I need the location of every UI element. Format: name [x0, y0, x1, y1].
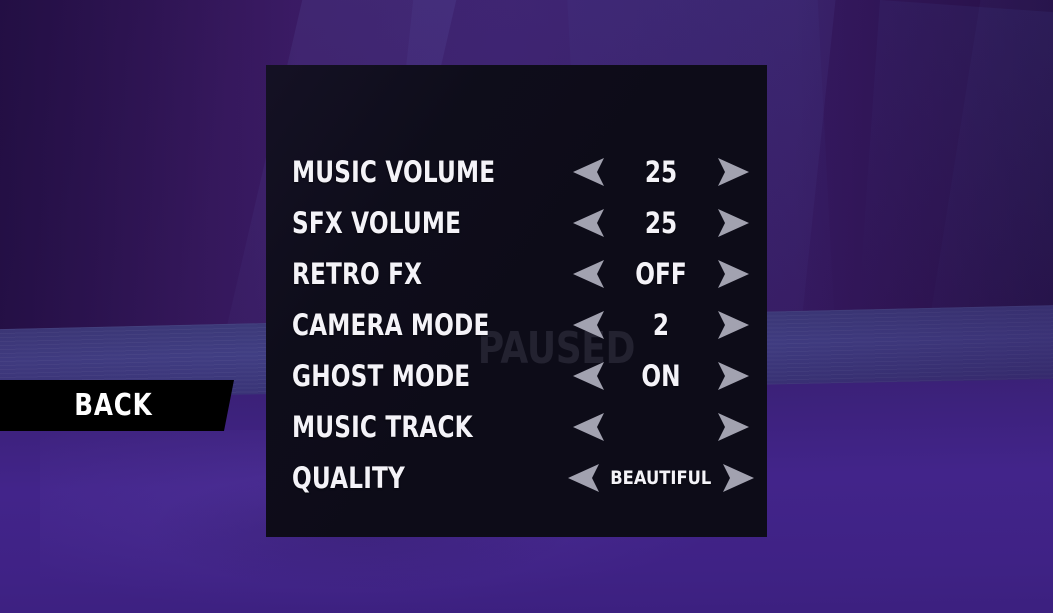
settings-row: QUALITYBEAUTIFUL [266, 456, 767, 500]
settings-row: SFX VOLUME25 [266, 201, 767, 245]
settings-row-control: 25 [571, 201, 751, 245]
back-button[interactable]: BACK [0, 380, 234, 431]
triangle-right-icon[interactable] [715, 157, 751, 187]
triangle-right-icon[interactable] [715, 310, 751, 340]
settings-row-label: CAMERA MODE [292, 303, 489, 347]
settings-row-value: OFF [618, 252, 704, 296]
settings-row-label: RETRO FX [292, 252, 422, 296]
triangle-right-icon[interactable] [720, 463, 756, 493]
settings-row-value: 25 [618, 201, 704, 245]
settings-row-list: MUSIC VOLUME25SFX VOLUME25RETRO FXOFFCAM… [266, 65, 767, 537]
triangle-left-icon[interactable] [566, 463, 602, 493]
settings-row-value: 25 [618, 150, 704, 194]
back-button-label: BACK [75, 380, 160, 431]
settings-row-label: MUSIC TRACK [292, 405, 473, 449]
settings-row-control: ON [571, 354, 751, 398]
settings-row-value: ON [618, 354, 704, 398]
settings-row-label: MUSIC VOLUME [292, 150, 495, 194]
settings-row: MUSIC VOLUME25 [266, 150, 767, 194]
settings-row: GHOST MODEON [266, 354, 767, 398]
settings-row-label: QUALITY [292, 456, 405, 500]
settings-row-label: SFX VOLUME [292, 201, 461, 245]
triangle-right-icon[interactable] [715, 208, 751, 238]
triangle-left-icon[interactable] [571, 208, 607, 238]
triangle-right-icon[interactable] [715, 259, 751, 289]
triangle-right-icon[interactable] [715, 361, 751, 391]
settings-panel: PAUSED MUSIC VOLUME25SFX VOLUME25RETRO F… [266, 65, 767, 537]
triangle-right-icon[interactable] [715, 412, 751, 442]
settings-row-value: 2 [618, 303, 704, 347]
settings-row-control: 25 [571, 150, 751, 194]
settings-row: MUSIC TRACK [266, 405, 767, 449]
triangle-left-icon[interactable] [571, 259, 607, 289]
settings-row: RETRO FXOFF [266, 252, 767, 296]
settings-row: CAMERA MODE2 [266, 303, 767, 347]
settings-row-label: GHOST MODE [292, 354, 470, 398]
triangle-left-icon[interactable] [571, 157, 607, 187]
settings-row-value: BEAUTIFUL [610, 456, 711, 500]
background-right-wedge [847, 0, 1053, 496]
triangle-left-icon[interactable] [571, 361, 607, 391]
triangle-left-icon[interactable] [571, 310, 607, 340]
settings-row-control: BEAUTIFUL [571, 456, 751, 500]
game-pause-settings-screen: PAUSED MUSIC VOLUME25SFX VOLUME25RETRO F… [0, 0, 1053, 613]
settings-row-control: OFF [571, 252, 751, 296]
triangle-left-icon[interactable] [571, 412, 607, 442]
settings-row-control [571, 405, 751, 449]
settings-row-control: 2 [571, 303, 751, 347]
